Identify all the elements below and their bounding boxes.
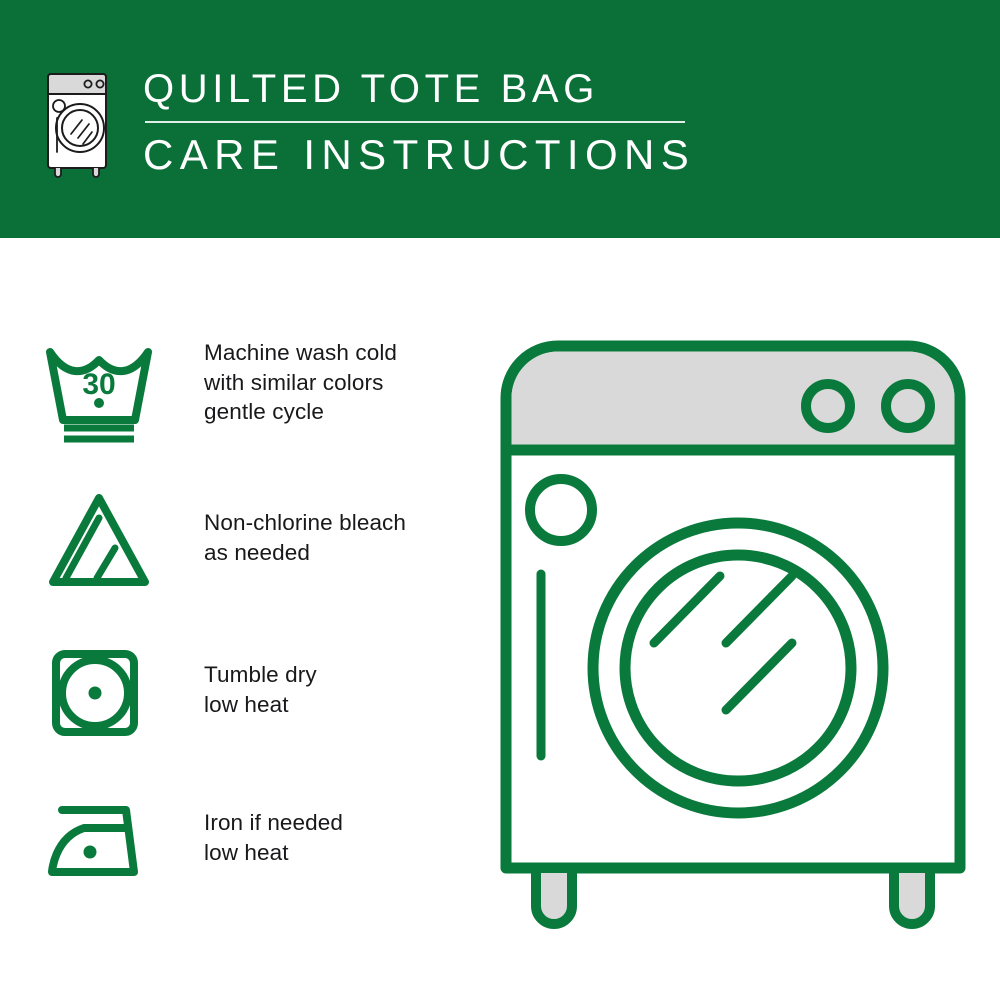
wash-temperature-label: 30 xyxy=(82,368,115,401)
care-item-wash-text: Machine wash cold with similar colors ge… xyxy=(162,338,397,427)
header-title-group: QUILTED TOTE BAG CARE INSTRUCTIONS xyxy=(143,64,703,181)
page-header: QUILTED TOTE BAG CARE INSTRUCTIONS xyxy=(0,0,1000,238)
washing-machine-illustration xyxy=(498,338,968,938)
care-text-line: low heat xyxy=(204,690,317,720)
care-item-iron-text: Iron if needed low heat xyxy=(162,790,343,867)
wash-tub-icon: 30 xyxy=(44,338,162,444)
care-instructions-page: QUILTED TOTE BAG CARE INSTRUCTIONS xyxy=(0,0,1000,1000)
care-item-tumble-dry: Tumble dry low heat xyxy=(44,638,474,790)
title-divider xyxy=(145,121,685,123)
care-text-line: Iron if needed xyxy=(204,808,343,838)
care-text-line: Non-chlorine bleach xyxy=(204,508,406,538)
machine-leg-right xyxy=(894,868,930,924)
care-text-line: gentle cycle xyxy=(204,397,397,427)
care-item-bleach-text: Non-chlorine bleach as needed xyxy=(162,486,406,567)
care-item-wash: 30 Machine wash cold with similar colors… xyxy=(44,338,474,486)
care-text-line: Tumble dry xyxy=(204,660,317,690)
machine-leg-left xyxy=(536,868,572,924)
care-item-iron: Iron if needed low heat xyxy=(44,790,474,930)
tumble-dry-icon xyxy=(44,638,162,744)
care-text-line: with similar colors xyxy=(204,368,397,398)
washing-machine-icon xyxy=(44,66,110,178)
bleach-triangle-icon xyxy=(44,486,162,592)
care-item-bleach: Non-chlorine bleach as needed xyxy=(44,486,474,638)
page-body: 30 Machine wash cold with similar colors… xyxy=(0,238,1000,1000)
page-subtitle: CARE INSTRUCTIONS xyxy=(143,129,703,181)
care-text-line: low heat xyxy=(204,838,343,868)
care-item-tumble-dry-text: Tumble dry low heat xyxy=(162,638,317,719)
page-title: QUILTED TOTE BAG xyxy=(143,64,703,114)
iron-icon xyxy=(44,790,162,896)
care-text-line: Machine wash cold xyxy=(204,338,397,368)
care-instruction-list: 30 Machine wash cold with similar colors… xyxy=(44,338,474,930)
care-text-line: as needed xyxy=(204,538,406,568)
